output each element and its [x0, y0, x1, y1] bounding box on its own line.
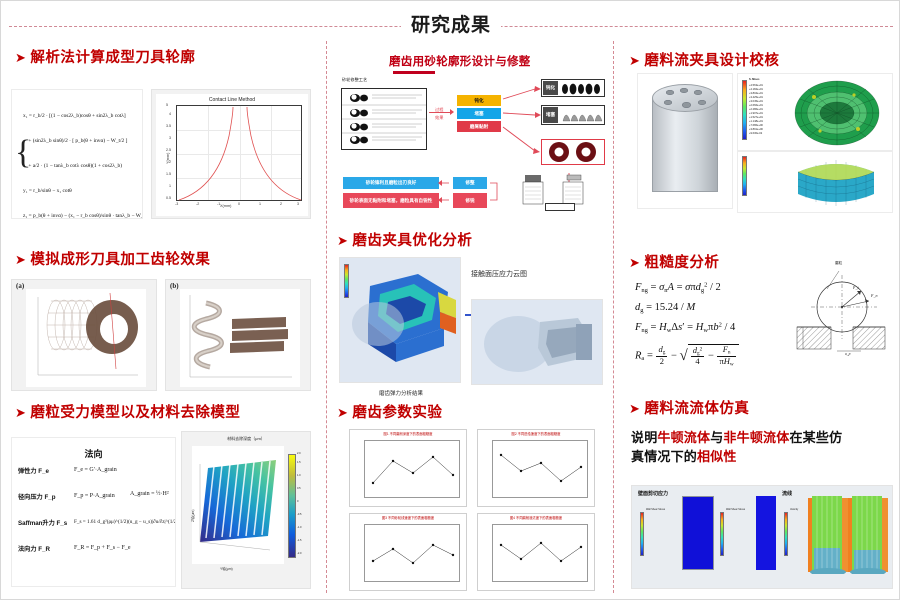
cfd-legend-title-2: Velocity: [790, 508, 798, 511]
flowchart-stage-box-2: 磨屑黏附: [457, 121, 501, 132]
roughness-grain-diagram: 磨粒 F_t F_n a_p: [791, 253, 891, 373]
formula-lines-tool-profile: x₁ = r_b/2 · [(1 − cos2λ_b)cosθ + sin2λ_…: [23, 95, 143, 219]
xtick: -1: [217, 202, 220, 206]
page-title: 研究成果: [1, 13, 900, 39]
experiment-chart-series-3: [493, 525, 589, 583]
ytick: 2: [169, 160, 171, 164]
fea-mesh-cylinder-render: [786, 154, 886, 212]
wheel-ring-photos: [542, 140, 604, 164]
simulation-figure-b: (b): [165, 279, 311, 391]
cfd-comparison-panel: 壁面剪切应力 流线 Wall Shear Stress Wall Shear S…: [631, 485, 893, 589]
bullet-arrow-icon: ➤: [629, 255, 640, 270]
statement-highlight: 牛顿流体: [657, 430, 710, 445]
colorbar-tick: 1.5: [297, 461, 301, 464]
xtick: -2: [196, 202, 199, 206]
wheel-state-thumbnails: [342, 89, 426, 149]
figure-caption-contact-stress: 接触面压应力云图: [471, 269, 527, 279]
experiment-chart-title-1: 图2 不同进给速度下的表面粗糙度: [478, 431, 594, 436]
bullet-arrow-icon: ➤: [337, 233, 348, 248]
fixture-cylinder-photo: [637, 73, 733, 209]
fixture-hole: [694, 90, 702, 95]
fixture-cylinder-body: [652, 98, 718, 192]
fea-legend-value: +4.563e+01: [749, 84, 763, 87]
statement-part: 在某些仿: [789, 430, 842, 445]
arrow-head-icon: [450, 109, 454, 115]
experiment-chart-axes-1: [492, 440, 588, 498]
plot-curve: [177, 106, 303, 202]
experiment-chart-1: 图2 不同进给速度下的表面粗糙度: [477, 429, 595, 507]
cfd-colorbar-1: [720, 512, 724, 556]
bullet-arrow-icon: ➤: [15, 252, 26, 267]
fixture-hole: [666, 90, 674, 95]
roughness-label-fn: F_n: [871, 293, 877, 298]
ytick: 3.5: [166, 124, 171, 128]
fea-legend-value: +1.148e+01: [749, 120, 763, 123]
heading-underline-rule: [393, 71, 435, 74]
roughness-diagram-render: [791, 253, 891, 373]
experiment-chart-series-0: [365, 441, 461, 499]
section-heading-fixture-optimization: ➤磨齿夹具优化分析: [337, 229, 472, 250]
fea-legend-value: +3.045e+01: [749, 100, 763, 103]
flowchart-outcome-tag-0: 钝化: [543, 81, 558, 95]
flowchart-statement-tag-1: 修锐: [453, 193, 487, 208]
fea-fixture-result-image: [471, 299, 603, 385]
section-heading-grinding-parameter-experiment: ➤磨齿参数实验: [337, 401, 442, 422]
colorbar-tick: 0: [297, 500, 298, 503]
force-row-formula-1: F_p = P·A_grain: [74, 492, 115, 501]
fea-legend-title: S. Mises: [749, 78, 759, 81]
column-divider-1: [326, 41, 327, 593]
force-row-label-1: 径向压力 F_p: [18, 492, 55, 501]
helix-mesh-render-b: [180, 289, 300, 387]
fixture-hole: [664, 100, 672, 105]
colorbar-tick: 1.0: [297, 474, 301, 477]
ytick: 0.5: [166, 196, 171, 200]
subfigure-label-a: (a): [16, 282, 24, 290]
page-title-text: 研究成果: [401, 15, 501, 36]
statement-part: 说明: [631, 430, 657, 445]
cfd-render-0: [682, 496, 714, 570]
fea-cylinder-colorbar: [742, 156, 747, 196]
bullet-arrow-icon: ➤: [337, 405, 348, 420]
simulation-canvas-a: [26, 289, 146, 387]
force-row-label-2: Saffman升力 F_s: [18, 518, 67, 527]
grain-shapes-blunt: [560, 81, 604, 97]
xtick: 3: [297, 202, 299, 206]
fea-legend-value: +9.630e-02: [749, 132, 762, 135]
force-row-label-0: 弹性力 F_e: [18, 466, 49, 475]
fea-legend-value: +1.527e+01: [749, 116, 763, 119]
section-heading-afm-fixture-design-check: ➤磨料流夹具设计校核: [629, 49, 779, 70]
cfd-colorbar-2: [784, 512, 788, 556]
fea-fixture-stress-image: [339, 257, 461, 383]
flowchart-statement-tag-0: 修整: [453, 177, 487, 189]
roughness-label-ft: F_t: [853, 285, 859, 290]
colorbar-tick: -1.0: [297, 526, 301, 529]
cfd-streamline-render-2: [808, 496, 850, 574]
roughness-label-grain: 磨粒: [835, 261, 842, 266]
force-row-label-3: 法向力 F_R: [18, 544, 50, 553]
force-row-formula-2: F_s = 1.61 d_g²(ρμ)^(1/2)(u_g − u_s)|∂u/…: [74, 518, 176, 526]
fea-legend-value: +1.907e+01: [749, 112, 763, 115]
bullet-arrow-icon: ➤: [629, 53, 640, 68]
ytick: 5: [166, 103, 168, 107]
flowchart-statement-1: 砂轮表面无黏附和堵塞，磨粒具有自锐性: [343, 193, 439, 208]
bullet-arrow-icon: ➤: [15, 50, 26, 65]
roughness-formula-2: Fng = HwΔs′ = Hwπb2 / 4: [635, 317, 735, 338]
fea-legend-value: +2.666e+01: [749, 104, 763, 107]
plot-title: Contact Line Method: [156, 97, 308, 103]
subfigure-label-b: (b): [170, 282, 179, 290]
cfd-legend-title-0: Wall Shear Stress: [646, 508, 665, 511]
surface-xlabel: Y轴(μm): [220, 566, 233, 571]
colorbar-tick: 0.5: [297, 487, 301, 490]
plot-panel-contact-line: Contact Line Method X(mm) Y(mm) -3 -2 -1: [151, 89, 311, 219]
colorbar-tick: -2.0: [297, 552, 301, 555]
simulation-figure-a: (a): [11, 279, 157, 391]
flowchart-stage-box-0: 钝化: [457, 95, 501, 106]
statement-part: 与: [710, 430, 723, 445]
grain-shapes-clogged: [560, 107, 604, 125]
fea-mesh-ring-render: [790, 77, 884, 149]
bullet-arrow-icon: ➤: [15, 405, 26, 420]
bullet-arrow-icon: ➤: [629, 401, 640, 416]
formula-panel-tool-profile: { x₁ = r_b/2 · [(1 − cos2λ_b)cosθ + sin2…: [11, 89, 143, 219]
force-row-extra-1: A_grain = ½·H²: [130, 490, 169, 499]
matlab-plot-contact-line: Contact Line Method X(mm) Y(mm) -3 -2 -1: [156, 94, 308, 216]
roughness-label-ap: a_p: [845, 352, 850, 356]
statement-part: 真情况下的: [631, 449, 697, 464]
conclusion-statement: 说明牛顿流体与非牛顿流体在某些仿 真情况下的相似性: [631, 429, 891, 467]
roughness-formula-3: Ra = dg2 − √ dg24 − FnπHw: [635, 341, 739, 371]
flowchart-wheel-dressing: 砂轮修整工艺: [337, 77, 609, 209]
flowchart-outcome-tag-1: 堵塞: [543, 107, 558, 123]
experiment-chart-2: 图3 不同砂轮线速度下的表面粗糙度: [349, 513, 467, 591]
xtick: 1: [259, 202, 261, 206]
flowchart-device-sketch: 对比装置: [519, 173, 605, 209]
simulation-canvas-b: [180, 289, 300, 387]
cfd-legend-title-1: Wall Shear Stress: [726, 508, 745, 511]
section-heading-gear-machining-simulation: ➤模拟成形刀具加工齿轮效果: [15, 248, 210, 269]
fea-legend-value: +3.891e+00: [749, 128, 763, 131]
statement-highlight: 相似性: [697, 449, 737, 464]
fea-fixture-result-render: [472, 300, 603, 385]
ytick: 4: [169, 112, 171, 116]
experiment-chart-title-3: 图4 不同磨削液浓度下的表面粗糙度: [478, 515, 594, 520]
arrow-right: [429, 112, 451, 113]
fixture-hole: [682, 102, 691, 108]
force-model-table: 法向 弹性力 F_e F_e = G′·A_grain 径向压力 F_p F_p…: [11, 437, 176, 587]
column-divider-2: [613, 41, 614, 593]
colorbar-tick: -0.5: [297, 513, 301, 516]
experiment-chart-axes-3: [492, 524, 588, 582]
fea-mesh-ring-image: S. Mises +4.563e+01 +4.184e+01 +3.804e+0…: [737, 73, 893, 151]
surface-ylabel: Z轴(μm): [190, 510, 195, 523]
force-row-formula-0: F_e = G′·A_grain: [74, 466, 117, 475]
flowchart-device-caption: 对比装置: [545, 203, 575, 211]
fea-legend-value: +2.286e+01: [749, 108, 763, 111]
fea-mises-colorbar: [742, 80, 747, 140]
flowchart-outcome-0: 钝化: [541, 79, 605, 97]
roughness-formula-1: dg = 15.24 / M: [635, 297, 695, 318]
experiment-chart-series-1: [493, 441, 589, 499]
xtick: -3: [175, 202, 178, 206]
cfd-render-2: [808, 496, 850, 574]
title-band: 研究成果: [1, 13, 900, 39]
flowchart-stage-box-1: 堵塞: [457, 108, 501, 119]
fixture-hole: [680, 88, 688, 93]
surface-plot-panel-removal-depth: 材料去除深度（μm）: [181, 431, 311, 589]
experiment-chart-axes-2: [364, 524, 460, 582]
ytick: 1.5: [166, 172, 171, 176]
cfd-colorbar-0: [640, 512, 644, 556]
roughness-formula-0: Fng = σnA = σπdg2 / 2: [635, 277, 721, 298]
experiment-chart-title-2: 图3 不同砂轮线速度下的表面粗糙度: [350, 515, 466, 520]
section-heading-afm-fluid-simulation: ➤磨料流流体仿真: [629, 397, 749, 418]
fea-mesh-cylinder-image: [737, 151, 893, 213]
flowchart-statement-0: 砂轮锋利且磨粒出刃良好: [343, 177, 439, 189]
xtick: 2: [280, 202, 282, 206]
cfd-label-streamline: 流线: [782, 490, 792, 497]
fixture-hole: [698, 100, 706, 105]
colorbar-tick: 2.0: [297, 452, 301, 455]
experiment-chart-3: 图4 不同磨削液浓度下的表面粗糙度: [477, 513, 595, 591]
force-table-title: 法向: [12, 447, 175, 460]
ytick: 2.5: [166, 148, 171, 152]
fea-legend-value: +3.804e+01: [749, 92, 763, 95]
section-heading-grain-force-model: ➤磨粒受力模型以及材料去除模型: [15, 401, 240, 422]
fea-legend-value: +3.425e+01: [749, 96, 763, 99]
flowchart-outcome-2: [541, 139, 605, 165]
cfd-label-wall-shear: 壁面剪切应力: [638, 490, 668, 497]
cfd-render-1: [756, 496, 776, 570]
flowchart-outcome-1: 堵塞: [541, 105, 605, 125]
experiment-chart-0: 图1 不同磨削深度下的表面粗糙度: [349, 429, 467, 507]
poster-root: 研究成果 ➤解析法计算成型刀具轮廓 { x₁ = r_b/2 · [(1 − c…: [0, 0, 900, 600]
surface-3d-render: [192, 446, 284, 564]
experiment-chart-series-2: [365, 525, 461, 583]
surface-plot-canvas: Y轴(μm) Z轴(μm): [192, 446, 284, 564]
ytick: 1: [169, 184, 171, 188]
surface-plot-title: 材料去除深度（μm）: [182, 436, 310, 442]
colorbar-tick: -1.5: [297, 539, 301, 542]
fea-colorbar: [344, 264, 349, 298]
xtick: 0: [238, 202, 240, 206]
flowchart-source-caption: 砂轮修整工艺: [342, 77, 367, 83]
experiment-chart-title-0: 图1 不同磨削深度下的表面粗糙度: [350, 431, 466, 436]
colorbar-parula: [288, 454, 296, 558]
figure-caption-fixture-result: 磨齿弹力分析结果: [379, 389, 423, 397]
section-heading-analytic-tool-profile: ➤解析法计算成型刀具轮廓: [15, 46, 195, 67]
ytick: 3: [169, 136, 171, 140]
flowchart-process-label-2: 效果: [435, 115, 443, 121]
plot-xlabel: X(mm): [220, 204, 231, 208]
experiment-chart-axes-0: [364, 440, 460, 498]
fea-legend-value: +4.184e+01: [749, 88, 763, 91]
cfd-render-3: [848, 496, 890, 574]
gear-mesh-render-a: [26, 289, 146, 387]
section-heading-wheel-profile-design: 磨齿用砂轮廓形设计与修整: [389, 53, 531, 69]
force-row-formula-3: F_R = F_p + F_s − F_e: [74, 544, 131, 553]
cfd-streamline-render-3: [848, 496, 890, 574]
plot-axes-frame: [176, 105, 302, 201]
flowchart-source-table: [341, 88, 427, 150]
statement-highlight: 非牛顿流体: [723, 430, 789, 445]
section-heading-roughness-analysis: ➤粗糙度分析: [629, 251, 719, 272]
fea-fixture-render: [340, 258, 461, 383]
fea-legend-value: +7.686e+00: [749, 124, 763, 127]
